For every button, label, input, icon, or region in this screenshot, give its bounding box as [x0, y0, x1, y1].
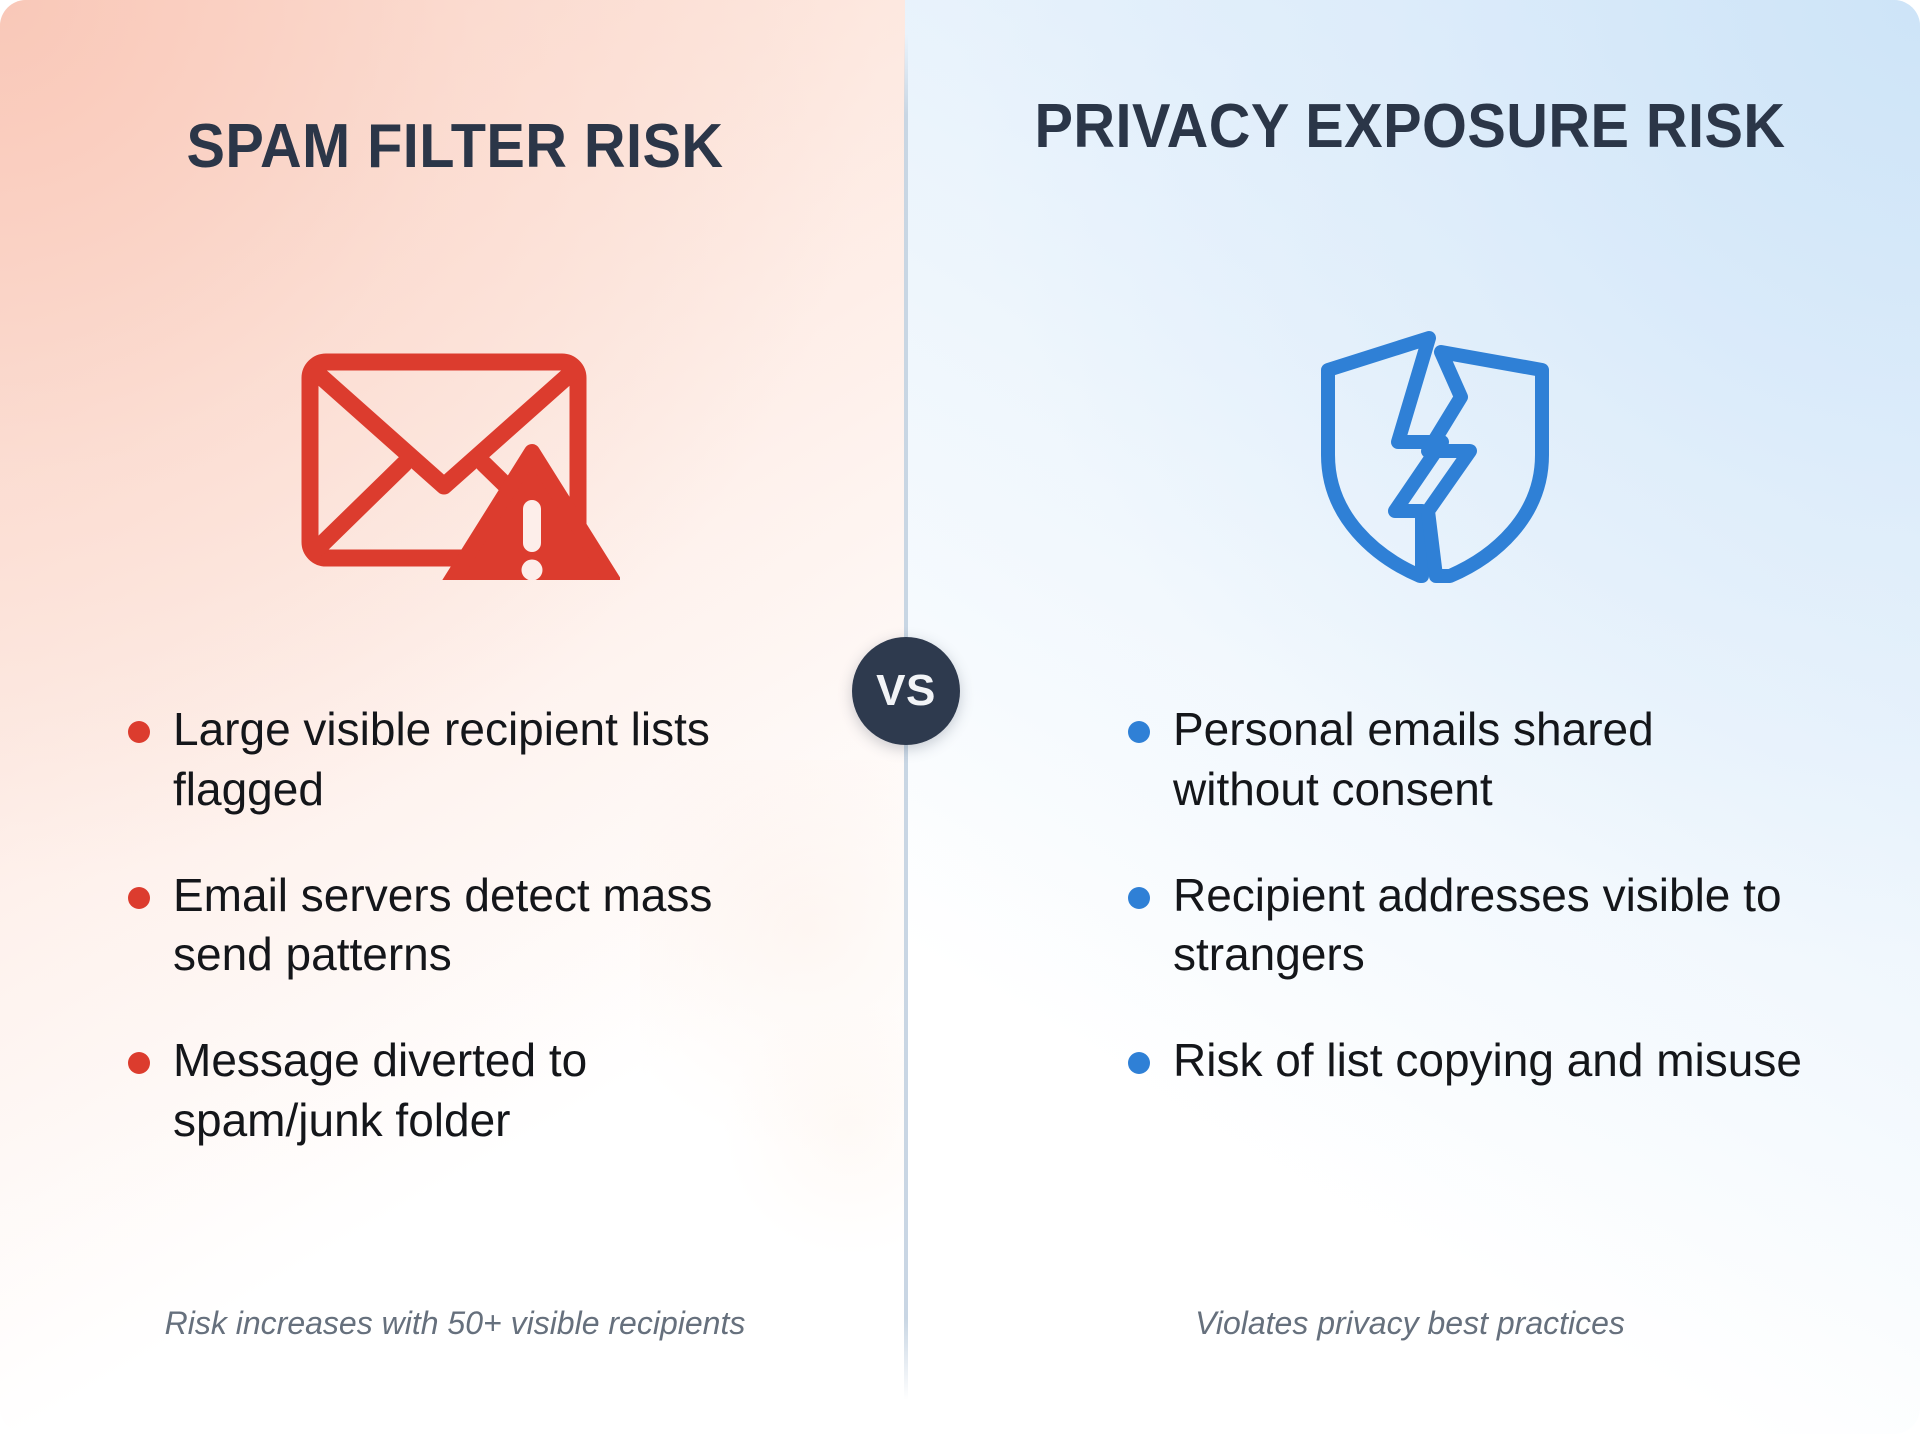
- right-footnote: Violates privacy best practices: [960, 1305, 1860, 1342]
- right-panel-title: PRIVACY EXPOSURE RISK: [992, 92, 1829, 162]
- list-item: Large visible recipient lists flagged: [128, 700, 788, 820]
- envelope-warning-icon: [300, 340, 620, 580]
- comparison-infographic: SPAM FILTER RISK PRIVACY EXPOSURE RISK: [0, 0, 1920, 1434]
- list-item-label: Recipient addresses visible to strangers: [1173, 866, 1808, 986]
- list-item: Email servers detect mass send patterns: [128, 866, 788, 986]
- list-item: Personal emails shared without consent: [1128, 700, 1808, 820]
- list-item-label: Risk of list copying and misuse: [1173, 1031, 1802, 1091]
- list-item: Message diverted to spam/junk folder: [128, 1031, 788, 1151]
- list-item: Risk of list copying and misuse: [1128, 1031, 1808, 1091]
- vs-badge-label: VS: [876, 669, 936, 713]
- list-item-label: Message diverted to spam/junk folder: [173, 1031, 788, 1151]
- bullet-dot-icon: [128, 1052, 150, 1074]
- list-item-label: Email servers detect mass send patterns: [173, 866, 788, 986]
- bullet-dot-icon: [128, 721, 150, 743]
- bullet-dot-icon: [1128, 887, 1150, 909]
- left-footnote: Risk increases with 50+ visible recipien…: [60, 1305, 850, 1342]
- bullet-dot-icon: [1128, 721, 1150, 743]
- list-item-label: Personal emails shared without consent: [1173, 700, 1808, 820]
- vs-badge: VS: [852, 637, 960, 745]
- left-panel-title: SPAM FILTER RISK: [88, 112, 823, 182]
- bullet-dot-icon: [128, 887, 150, 909]
- list-item-label: Large visible recipient lists flagged: [173, 700, 788, 820]
- list-item: Recipient addresses visible to strangers: [1128, 866, 1808, 986]
- left-bullet-list: Large visible recipient lists flagged Em…: [128, 700, 788, 1197]
- broken-shield-icon: [1310, 325, 1560, 585]
- right-bullet-list: Personal emails shared without consent R…: [1128, 700, 1808, 1137]
- bullet-dot-icon: [1128, 1052, 1150, 1074]
